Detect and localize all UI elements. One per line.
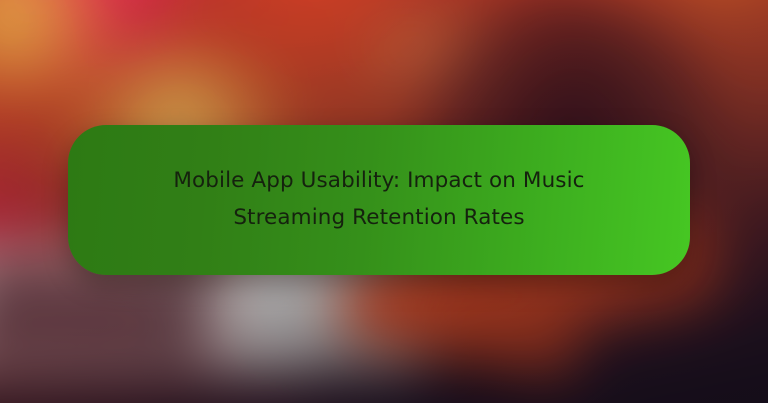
title-card-slide: Mobile App Usability: Impact on Music St… [0,0,768,403]
title-card-panel: Mobile App Usability: Impact on Music St… [68,125,690,275]
page-title: Mobile App Usability: Impact on Music St… [149,163,609,237]
